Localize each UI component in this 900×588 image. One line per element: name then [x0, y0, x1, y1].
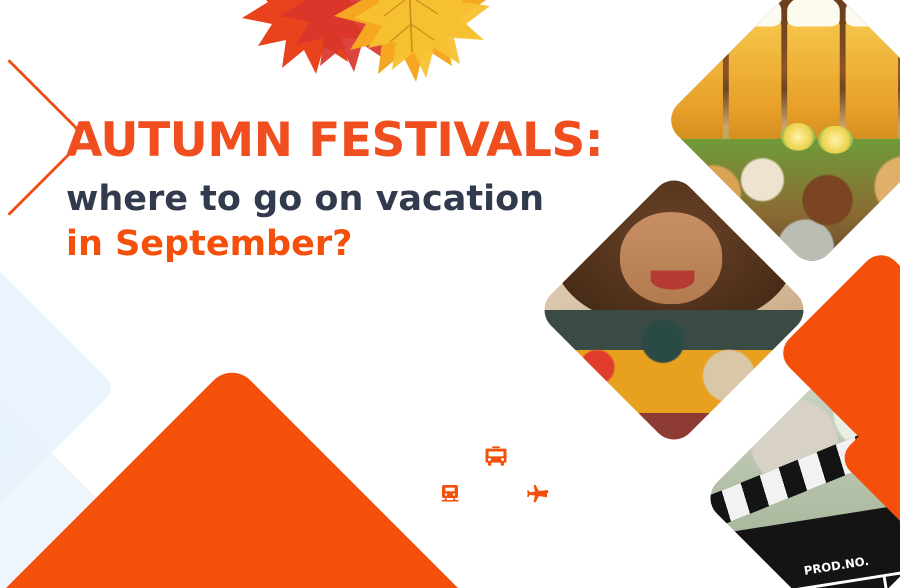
infobus-logo[interactable]: INFOBUS: [410, 432, 580, 557]
infobus-wordmark: INFOBUS: [410, 528, 580, 557]
autumn-maple-leaves-icon: [212, 0, 512, 110]
logo-icon-group: [410, 432, 580, 514]
headline-block: AUTUMN FESTIVALS: where to go on vacatio…: [66, 116, 666, 266]
subtitle-line-1: where to go on vacation: [66, 177, 666, 222]
page-title: AUTUMN FESTIVALS:: [66, 116, 666, 167]
autumn-festivals-banner: PROD.NO. SCENE TAKE SOU: [0, 0, 900, 588]
subtitle-line-2: in September?: [66, 222, 666, 267]
train-icon: [419, 463, 481, 525]
